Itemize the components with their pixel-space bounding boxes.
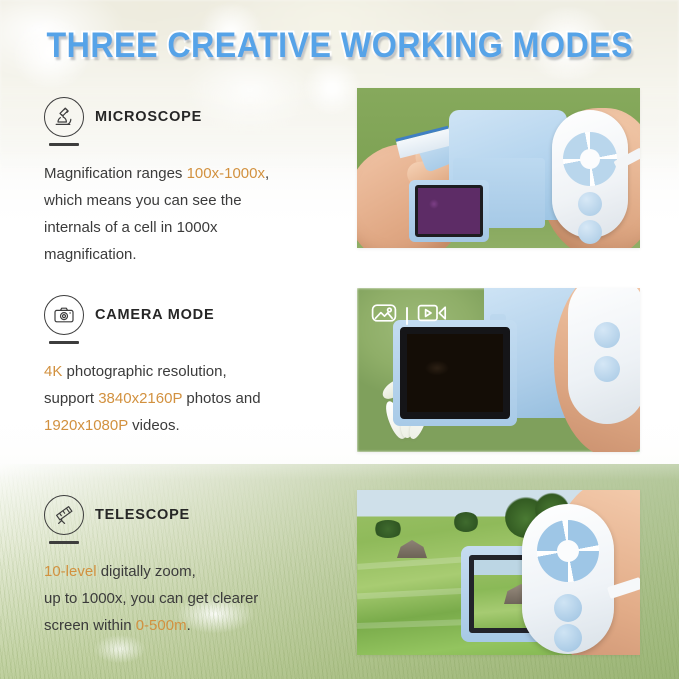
control-button (554, 624, 582, 652)
telescope-product-photo (357, 490, 640, 655)
accent-text: 3840x2160P (98, 390, 182, 407)
camera-mode-product-photo (357, 288, 640, 452)
mode-icons-overlay (371, 302, 447, 329)
microscope-icon (44, 97, 84, 137)
section-body: 10-level digitally zoom, up to 1000x, yo… (44, 558, 344, 639)
section-title: CAMERA MODE (95, 307, 214, 323)
body-line: screen within 0-500m. (44, 617, 191, 634)
icon-divider (406, 307, 408, 325)
photo-mode-icon (371, 302, 397, 329)
body-line: which means you can see the (44, 192, 242, 209)
video-mode-icon (417, 302, 447, 329)
page-title-container: THREE CREATIVE WORKING MODES (0, 26, 679, 66)
photo-content (357, 490, 640, 655)
section-body: 4K photographic resolution, support 3840… (44, 358, 344, 439)
camera-icon (44, 295, 84, 335)
control-pad (552, 110, 628, 238)
accent-text: 0-500m (136, 617, 187, 634)
body-line: 4K photographic resolution, (44, 363, 227, 380)
section-body: Magnification ranges 100x-1000x, which m… (44, 160, 344, 268)
lcd-frame (393, 320, 517, 426)
body-line: support 3840x2160P photos and (44, 390, 261, 407)
body-line: 10-level digitally zoom, (44, 563, 196, 580)
section-underline (49, 143, 79, 146)
control-button (554, 594, 582, 622)
accent-text: 10-level (44, 563, 97, 580)
accent-text: 100x-1000x (187, 165, 265, 182)
dpad-icon (563, 132, 617, 186)
body-line: 1920x1080P videos. (44, 417, 180, 434)
photo-content (357, 288, 640, 452)
control-pad (522, 504, 614, 654)
body-line: internals of a cell in 1000x (44, 219, 217, 236)
section-title: MICROSCOPE (95, 109, 202, 125)
photo-content (357, 88, 640, 248)
control-pad (568, 288, 640, 424)
body-line: Magnification ranges 100x-1000x, (44, 165, 269, 182)
dpad-icon (537, 520, 599, 582)
section-underline (49, 541, 79, 544)
lcd-screen-cells (415, 185, 483, 237)
telescope-icon (44, 495, 84, 535)
section-telescope: TELESCOPE 10-level digitally zoom, up to… (44, 496, 344, 639)
control-button (578, 220, 602, 244)
lcd-screen-bee (400, 327, 510, 419)
page-title: THREE CREATIVE WORKING MODES (46, 26, 633, 66)
control-button (594, 356, 620, 382)
body-line: up to 1000x, you can get clearer (44, 590, 258, 607)
control-button (594, 322, 620, 348)
lcd-frame (409, 180, 489, 242)
section-camera-mode: CAMERA MODE 4K photographic resolution, … (44, 296, 344, 439)
section-title: TELESCOPE (95, 507, 190, 523)
accent-text: 1920x1080P (44, 417, 128, 434)
tree (453, 512, 479, 532)
section-microscope: MICROSCOPE Magnification ranges 100x-100… (44, 98, 344, 268)
section-header: MICROSCOPE (44, 98, 344, 136)
section-underline (49, 341, 79, 344)
body-line: magnification. (44, 246, 137, 263)
infographic-page: THREE CREATIVE WORKING MODES MICROSCOPE … (0, 0, 679, 679)
section-header: CAMERA MODE (44, 296, 344, 334)
accent-text: 4K (44, 363, 62, 380)
control-button (578, 192, 602, 216)
tree (373, 520, 403, 538)
section-header: TELESCOPE (44, 496, 344, 534)
microscope-product-photo (357, 88, 640, 248)
